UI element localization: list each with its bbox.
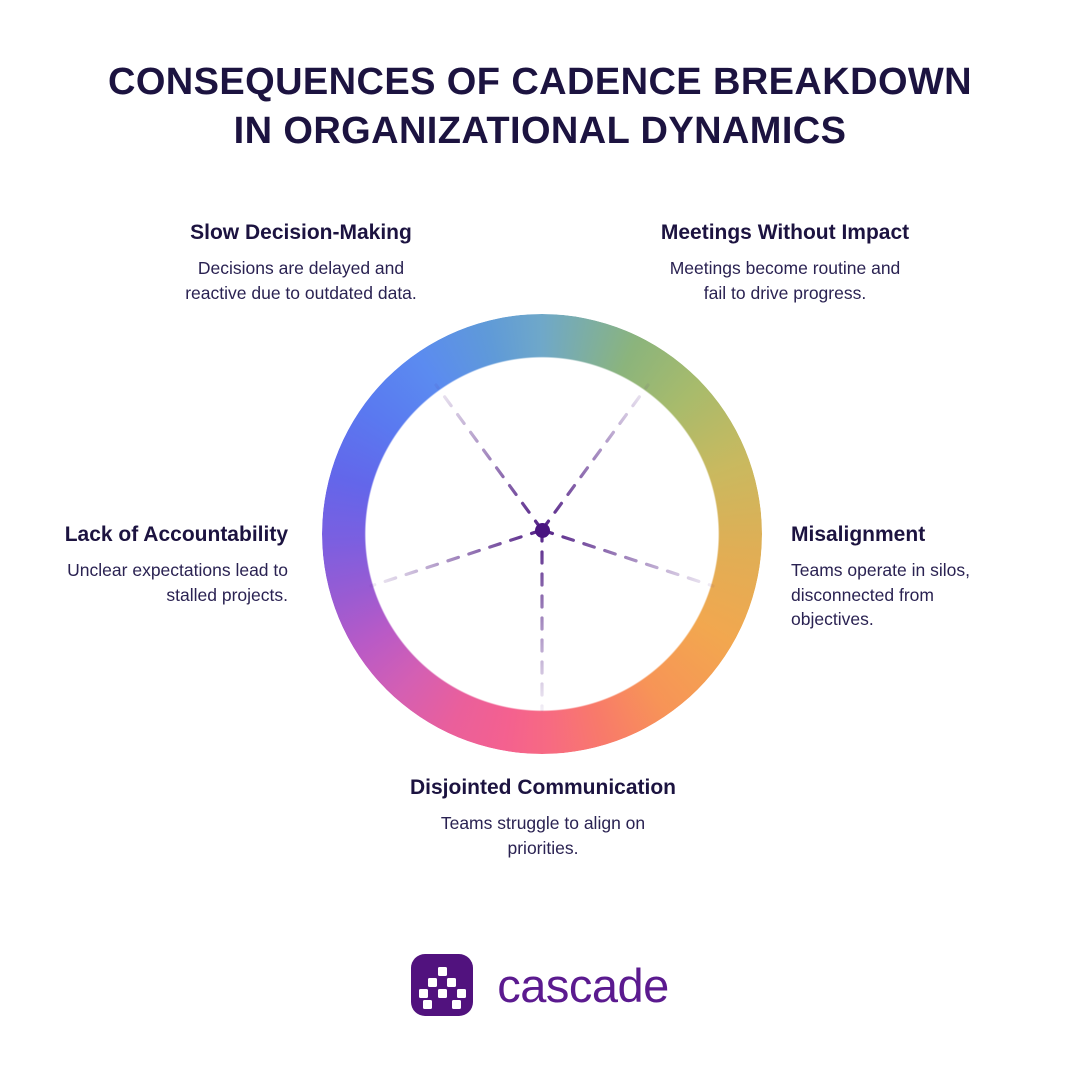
brand-footer: cascade [0, 954, 1080, 1016]
callout-lack-of-accountability: Lack of Accountability Unclear expectati… [58, 521, 288, 607]
callout-title: Disjointed Communication [408, 774, 678, 802]
cascade-wordmark: cascade [497, 962, 669, 1009]
callout-title: Lack of Accountability [58, 521, 288, 549]
callout-description: Meetings become routine and fail to driv… [658, 256, 912, 306]
callout-description: Teams operate in silos, disconnected fro… [791, 558, 1021, 633]
callout-title: Meetings Without Impact [658, 219, 912, 247]
spoke-upper-right [542, 385, 648, 530]
callout-slow-decision-making: Slow Decision-Making Decisions are delay… [170, 219, 432, 305]
page-title-line-1: Consequences of Cadence Breakdown [0, 58, 1080, 107]
callout-meetings-without-impact: Meetings Without Impact Meetings become … [658, 219, 912, 305]
callout-description: Decisions are delayed and reactive due t… [170, 256, 432, 306]
hub-center-dot [535, 523, 550, 538]
callout-misalignment: Misalignment Teams operate in silos, dis… [791, 521, 1021, 632]
cascade-logo-icon [411, 954, 473, 1016]
page-title-line-2: In Organizational Dynamics [0, 107, 1080, 156]
spoke-lower-left [371, 530, 542, 586]
callout-title: Misalignment [791, 521, 1021, 549]
callout-disjointed-communication: Disjointed Communication Teams struggle … [408, 774, 678, 860]
callout-title: Slow Decision-Making [170, 219, 432, 247]
callout-description: Teams struggle to align on priorities. [408, 811, 678, 861]
spoke-lower-right [542, 530, 713, 586]
page-title: Consequences of Cadence Breakdown In Org… [0, 58, 1080, 155]
spoke-upper-left [436, 385, 542, 530]
callout-description: Unclear expectations lead to stalled pro… [58, 558, 288, 608]
radial-diagram [322, 314, 762, 754]
